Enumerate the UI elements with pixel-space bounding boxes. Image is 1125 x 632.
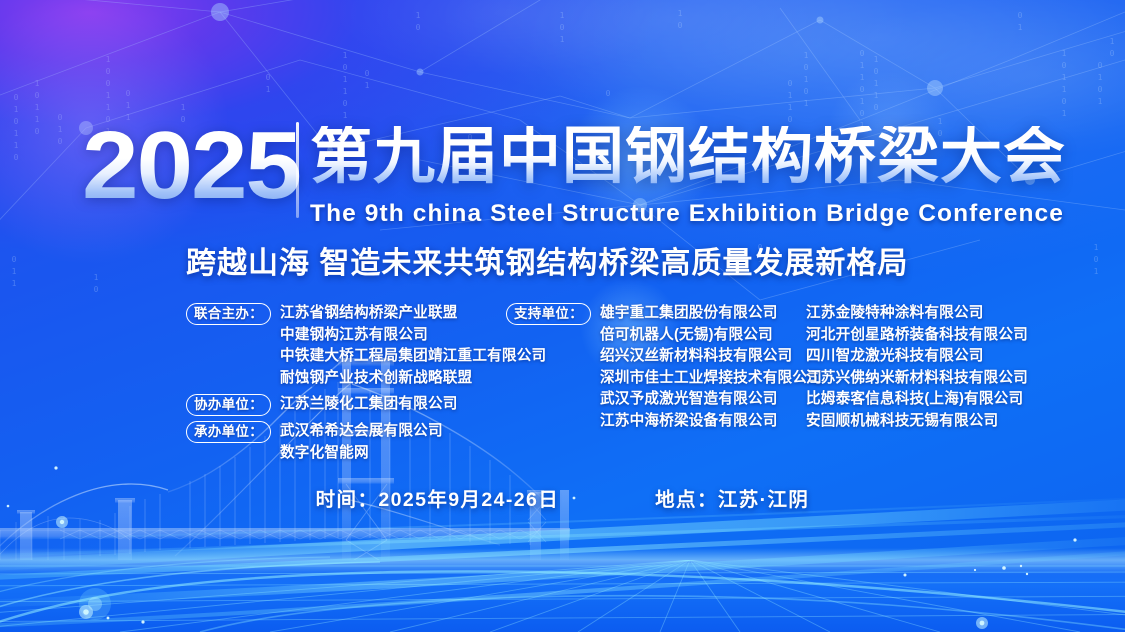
slogan-text: 跨越山海 智造未来共筑钢结构桥梁高质量发展新格局 bbox=[186, 238, 908, 282]
org-group-zhichi-danwei-continued: 江苏金陵特种涂料有限公司 河北开创星路桥装备科技有限公司 四川智龙激光科技有限公… bbox=[806, 303, 1028, 432]
org-list-zhichi-danwei: 雄宇重工集团股份有限公司 倍可机器人(无锡)有限公司 绍兴汉丝新材料科技有限公司… bbox=[600, 303, 822, 432]
list-item: 雄宇重工集团股份有限公司 bbox=[600, 303, 822, 325]
list-item: 江苏金陵特种涂料有限公司 bbox=[806, 303, 1028, 325]
year-2025: 2025 bbox=[82, 118, 300, 214]
event-footer: 时间：2025年9月24-26日 地点：江苏·江阴 bbox=[0, 483, 1125, 512]
list-item: 江苏中海桥梁设备有限公司 bbox=[600, 411, 822, 433]
org-label-xieban-danwei: 协办单位： bbox=[186, 394, 271, 416]
list-item: 武汉予成激光智造有限公司 bbox=[600, 389, 822, 411]
org-group-lianhe-zhuban: 联合主办： 江苏省钢结构桥梁产业联盟 中建钢构江苏有限公司 中铁建大桥工程局集团… bbox=[186, 303, 546, 389]
organizer-column-right: 江苏金陵特种涂料有限公司 河北开创星路桥装备科技有限公司 四川智龙激光科技有限公… bbox=[806, 303, 1028, 436]
org-label-lianhe-zhuban: 联合主办： bbox=[186, 303, 271, 325]
organizer-column-middle: 支持单位： 雄宇重工集团股份有限公司 倍可机器人(无锡)有限公司 绍兴汉丝新材料… bbox=[506, 303, 822, 436]
org-label-zhichi-danwei: 支持单位： bbox=[506, 303, 591, 325]
list-item: 安固顺机械科技无锡有限公司 bbox=[806, 411, 1028, 433]
org-group-xieban-danwei: 协办单位： 江苏兰陵化工集团有限公司 bbox=[186, 394, 546, 416]
list-item: 武汉希希达会展有限公司 bbox=[280, 421, 443, 443]
banner-content: 2025 第九届中国钢结构桥梁大会 The 9th china Steel St… bbox=[0, 0, 1125, 632]
list-item: 深圳市佳士工业焊接技术有限公司 bbox=[600, 368, 822, 390]
org-list-xieban-danwei: 江苏兰陵化工集团有限公司 bbox=[280, 394, 458, 416]
list-item: 河北开创星路桥装备科技有限公司 bbox=[806, 325, 1028, 347]
event-location: 地点：江苏·江阴 bbox=[655, 483, 809, 512]
list-item: 江苏兴佛纳米新材料科技有限公司 bbox=[806, 368, 1028, 390]
event-date: 时间：2025年9月24-26日 bbox=[316, 483, 560, 512]
list-item: 绍兴汉丝新材料科技有限公司 bbox=[600, 346, 822, 368]
conference-banner: 010110 10110 010 1001101 011 10 01 01 10… bbox=[0, 0, 1125, 632]
org-group-zhichi-danwei: 支持单位： 雄宇重工集团股份有限公司 倍可机器人(无锡)有限公司 绍兴汉丝新材料… bbox=[506, 303, 822, 432]
list-item: 倍可机器人(无锡)有限公司 bbox=[600, 325, 822, 347]
org-label-chengban-danwei: 承办单位： bbox=[186, 421, 271, 443]
page-title: 第九届中国钢结构桥梁大会 bbox=[310, 126, 1066, 188]
org-group-chengban-danwei: 承办单位： 武汉希希达会展有限公司 数字化智能网 bbox=[186, 421, 546, 464]
org-list-zhichi-danwei-continued: 江苏金陵特种涂料有限公司 河北开创星路桥装备科技有限公司 四川智龙激光科技有限公… bbox=[806, 303, 1028, 432]
english-subtitle: The 9th china Steel Structure Exhibition… bbox=[310, 200, 1064, 228]
list-item: 数字化智能网 bbox=[280, 443, 443, 465]
list-item: 比姆泰客信息科技(上海)有限公司 bbox=[806, 389, 1028, 411]
list-item: 江苏兰陵化工集团有限公司 bbox=[280, 394, 458, 416]
title-divider bbox=[296, 122, 299, 218]
organizer-column-left: 联合主办： 江苏省钢结构桥梁产业联盟 中建钢构江苏有限公司 中铁建大桥工程局集团… bbox=[186, 303, 546, 468]
org-list-chengban-danwei: 武汉希希达会展有限公司 数字化智能网 bbox=[280, 421, 443, 464]
list-item: 四川智龙激光科技有限公司 bbox=[806, 346, 1028, 368]
